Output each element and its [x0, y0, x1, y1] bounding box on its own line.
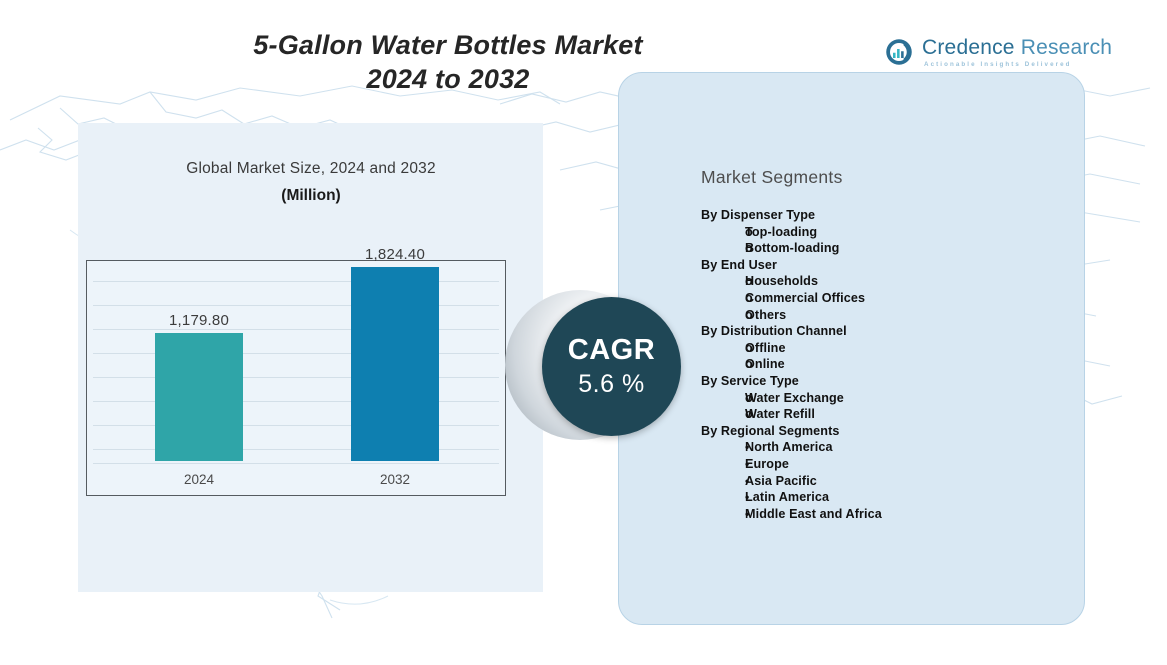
- segment-item: oBottom-loading: [701, 240, 1071, 257]
- segment-item: •Latin America: [701, 489, 1071, 506]
- circle-marker-icon: o: [701, 406, 745, 423]
- category-label-2032: 2032: [335, 472, 455, 487]
- segment-item: oHouseholds: [701, 273, 1071, 290]
- segment-item: •Europe: [701, 456, 1071, 473]
- bullet-marker-icon: •: [701, 489, 745, 506]
- brand-logo[interactable]: Credence Research Actionable Insights De…: [884, 36, 1112, 68]
- chart-header: Global Market Size, 2024 and 2032 (Milli…: [96, 160, 526, 205]
- bullet-marker-icon: •: [701, 506, 745, 523]
- bar-chart: 1,179.80 1,824.40 2024 2032: [86, 260, 506, 496]
- segment-item: oWater Exchange: [701, 390, 1071, 407]
- segment-item: oWater Refill: [701, 406, 1071, 423]
- brand-name: Credence Research: [922, 36, 1112, 60]
- brand-name-primary: Credence: [922, 36, 1015, 59]
- circle-marker-icon: o: [701, 340, 745, 357]
- segment-item: oOthers: [701, 307, 1071, 324]
- chart-title: Global Market Size, 2024 and 2032: [96, 160, 526, 178]
- bullet-marker-icon: •: [701, 456, 745, 473]
- segment-item-label: North America: [745, 439, 1071, 456]
- chart-plot-area: 1,179.80 1,824.40 2024 2032: [87, 261, 505, 495]
- segment-item-label: Water Refill: [745, 406, 1071, 423]
- segment-item-label: Others: [745, 307, 1071, 324]
- segment-item-label: Online: [745, 356, 1071, 373]
- circle-marker-icon: o: [701, 273, 745, 290]
- segment-item-label: Water Exchange: [745, 390, 1071, 407]
- cagr-value: 5.6 %: [578, 370, 644, 399]
- cagr-label: CAGR: [568, 334, 655, 367]
- page-title: 5-Gallon Water Bottles Market 2024 to 20…: [188, 28, 708, 96]
- segment-group-heading: By Distribution Channel: [701, 323, 1071, 340]
- segment-item: •North America: [701, 439, 1071, 456]
- brand-name-secondary: Research: [1021, 36, 1112, 59]
- segment-group-heading: By End User: [701, 257, 1071, 274]
- category-label-2024: 2024: [139, 472, 259, 487]
- bar-label-2032: 1,824.40: [335, 246, 455, 263]
- segment-item: •Middle East and Africa: [701, 506, 1071, 523]
- segment-item-label: Middle East and Africa: [745, 506, 1071, 523]
- segment-item-label: Top-loading: [745, 224, 1071, 241]
- circle-marker-icon: o: [701, 356, 745, 373]
- page-title-line1: 5-Gallon Water Bottles Market: [188, 28, 708, 62]
- segment-item-label: Households: [745, 273, 1071, 290]
- segment-group-heading: By Regional Segments: [701, 423, 1071, 440]
- circle-marker-icon: o: [701, 390, 745, 407]
- segment-group-heading: By Dispenser Type: [701, 207, 1071, 224]
- brand-tagline: Actionable Insights Delivered: [924, 61, 1112, 68]
- segment-group-heading: By Service Type: [701, 373, 1071, 390]
- cagr-badge: CAGR 5.6 %: [542, 297, 681, 436]
- page-title-line2: 2024 to 2032: [188, 62, 708, 96]
- circle-marker-icon: o: [701, 240, 745, 257]
- segment-item-label: Offline: [745, 340, 1071, 357]
- segment-item: oOffline: [701, 340, 1071, 357]
- segments-heading: Market Segments: [701, 167, 843, 188]
- brand-text-block: Credence Research Actionable Insights De…: [922, 36, 1112, 68]
- bar-chart-circle-icon: [884, 37, 914, 67]
- segment-item: oTop-loading: [701, 224, 1071, 241]
- bar-label-2024: 1,179.80: [139, 312, 259, 329]
- circle-marker-icon: o: [701, 290, 745, 307]
- segment-item-label: Asia Pacific: [745, 473, 1071, 490]
- segment-item: •Asia Pacific: [701, 473, 1071, 490]
- segment-item: oCommercial Offices: [701, 290, 1071, 307]
- segment-item-label: Latin America: [745, 489, 1071, 506]
- infographic-root: 5-Gallon Water Bottles Market 2024 to 20…: [0, 0, 1167, 665]
- segment-item-label: Bottom-loading: [745, 240, 1071, 257]
- segment-item-label: Commercial Offices: [745, 290, 1071, 307]
- bullet-marker-icon: •: [701, 439, 745, 456]
- bar-2024: [155, 333, 243, 461]
- segments-list: By Dispenser TypeoTop-loadingoBottom-loa…: [701, 207, 1071, 522]
- segment-item-label: Europe: [745, 456, 1071, 473]
- circle-marker-icon: o: [701, 307, 745, 324]
- segment-item: oOnline: [701, 356, 1071, 373]
- bar-2032: [351, 267, 439, 461]
- chart-unit: (Million): [96, 187, 526, 205]
- bullet-marker-icon: •: [701, 473, 745, 490]
- circle-marker-icon: o: [701, 224, 745, 241]
